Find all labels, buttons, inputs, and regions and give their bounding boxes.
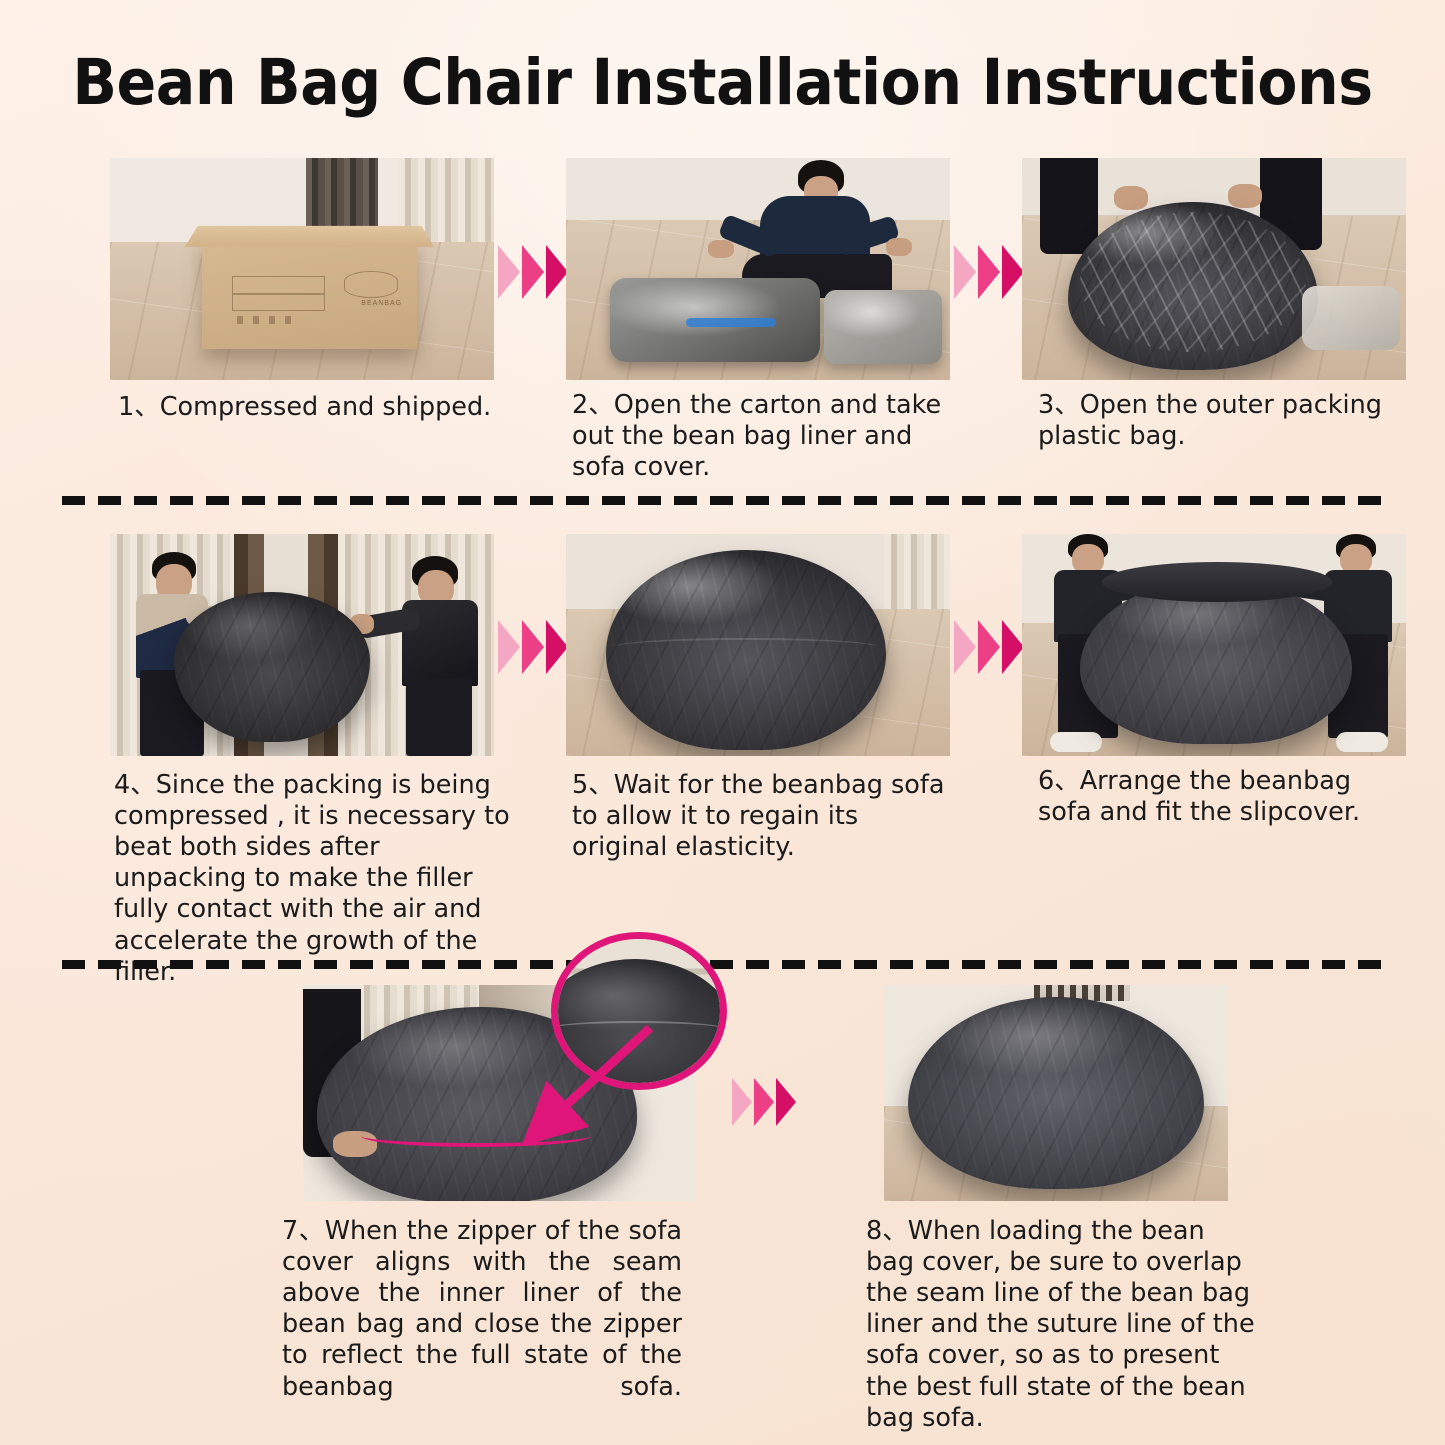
step-5-photo [566, 534, 950, 756]
divider-row1-row2 [62, 496, 1382, 505]
box-logo-icon [344, 271, 398, 297]
plastic-sheen [1080, 212, 1306, 352]
chevron-icon [754, 1078, 774, 1126]
step-7-caption: 7、When the zipper of the sofa cover alig… [282, 1216, 682, 1434]
cardboard-box: BEANBAG [202, 238, 417, 349]
chevron-icon [522, 245, 544, 299]
step-5-caption: 5、Wait for the beanbag sofa to allow it … [572, 770, 954, 863]
arrow-step5-to-step6 [954, 620, 1024, 674]
step-8-photo [884, 985, 1228, 1201]
infographic-page: Bean Bag Chair Installation Instructions… [0, 0, 1445, 1445]
fabric-creases [1080, 580, 1352, 744]
step-4-photo [110, 534, 494, 756]
secondary-plastic-bag [1302, 286, 1400, 350]
vacuum-bag-seal-strip [686, 318, 776, 327]
hand-right [1228, 184, 1262, 208]
chevron-icon [1002, 245, 1024, 299]
step-4-caption: 4、Since the packing is being compressed … [114, 770, 510, 988]
chevron-icon [978, 620, 1000, 674]
chevron-icon [978, 245, 1000, 299]
page-title: Bean Bag Chair Installation Instructions [51, 46, 1395, 119]
chevron-icon [498, 245, 520, 299]
shoe [1336, 732, 1388, 752]
step-2-caption: 2、Open the carton and take out the bean … [572, 390, 954, 483]
chevron-icon [546, 620, 568, 674]
step-8-caption: 8、When loading the bean bag cover, be su… [866, 1216, 1256, 1434]
step-1-photo: BEANBAG [110, 158, 494, 380]
shoe [1050, 732, 1102, 752]
step-6-photo [1022, 534, 1406, 756]
step-1-caption: 1、Compressed and shipped. [118, 392, 518, 423]
arrow-step4-to-step5 [498, 620, 568, 674]
chevron-icon [954, 245, 976, 299]
chevron-icon [1002, 620, 1024, 674]
hand-left [1114, 186, 1148, 210]
step-3-photo [1022, 158, 1406, 380]
divider-row2-row3 [62, 960, 1382, 969]
step-6-caption: 6、Arrange the beanbag sofa and fit the s… [1038, 766, 1410, 828]
chevron-icon [776, 1078, 796, 1126]
slipcover-flap [1102, 562, 1332, 602]
chevron-icon [498, 620, 520, 674]
step-2-photo [566, 158, 950, 380]
fabric-creases [174, 592, 370, 742]
chevron-icon [954, 620, 976, 674]
arrow-step2-to-step3 [954, 245, 1024, 299]
callout-pointer-arrow [420, 1000, 700, 1160]
box-lid [185, 226, 434, 247]
person-right [362, 556, 486, 756]
arrow-step1-to-step2 [498, 245, 568, 299]
person-legs-left [1040, 158, 1098, 254]
box-shipping-label [232, 276, 324, 311]
box-brand-text: BEANBAG [361, 300, 402, 307]
chevron-icon [546, 245, 568, 299]
hand-right [886, 238, 912, 256]
hand-left [708, 240, 734, 258]
inflated-liner [606, 550, 886, 750]
step-3-caption: 3、Open the outer packing plastic bag. [1038, 390, 1406, 452]
bean-bag-with-slipcover [1080, 580, 1352, 744]
arrow-step7-to-step8 [732, 1078, 796, 1126]
fabric-creases [606, 550, 886, 750]
vacuum-bag-cover [824, 290, 942, 364]
box-handling-icons [237, 316, 302, 325]
curtain-dark [306, 158, 378, 233]
chevron-icon [732, 1078, 752, 1126]
legs [406, 678, 472, 756]
compressed-bean-bag [174, 592, 370, 742]
chevron-icon [522, 620, 544, 674]
